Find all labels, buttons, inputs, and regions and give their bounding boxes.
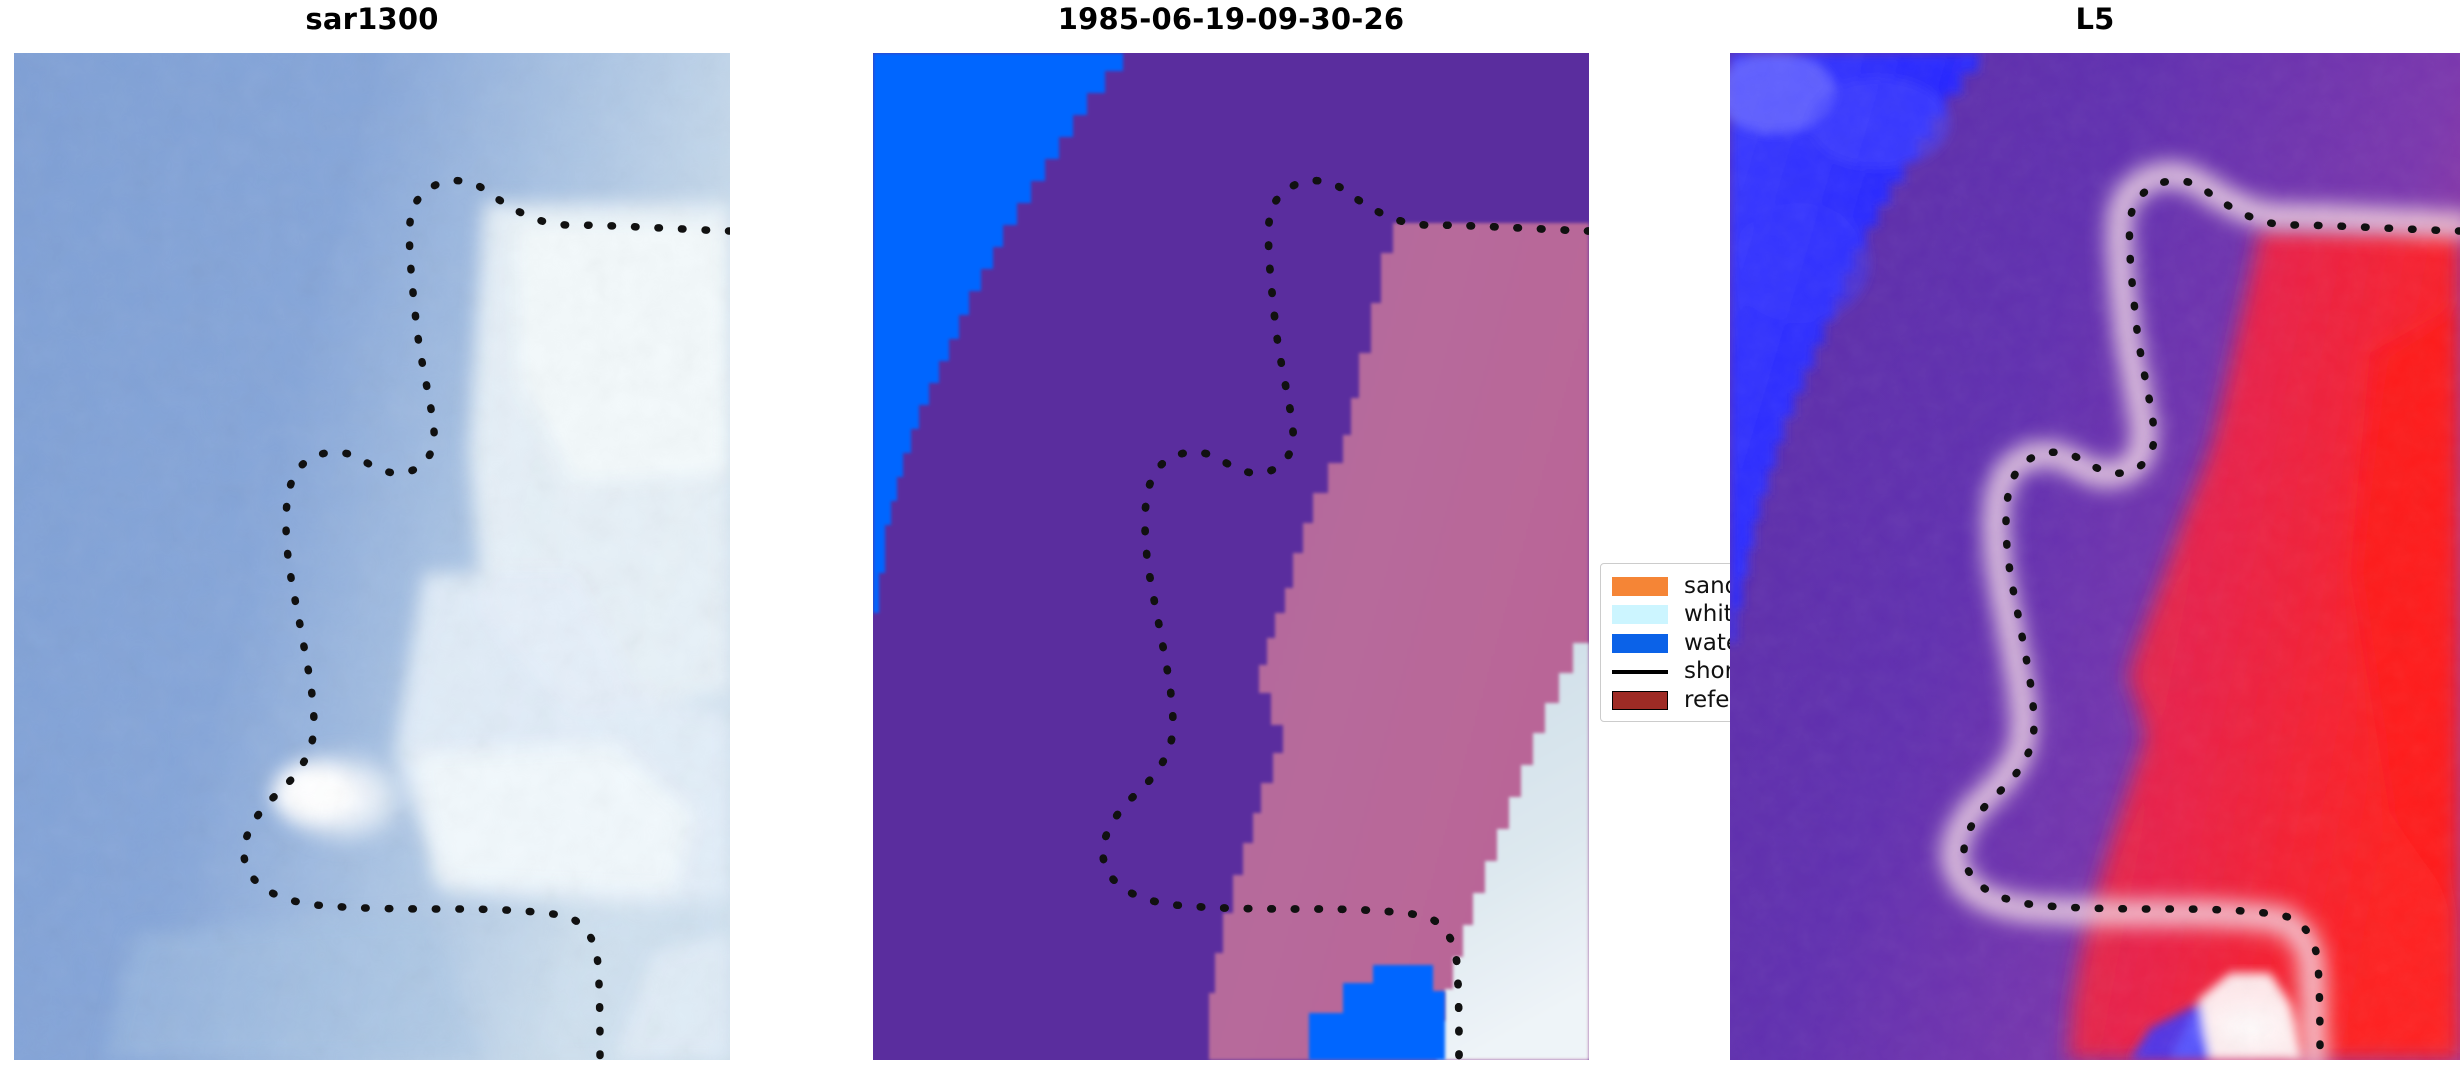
panel-classified [873, 53, 1589, 1060]
panel-rgb [1730, 53, 2460, 1060]
shoreline-line-icon [1612, 662, 1668, 681]
whitewater-swatch-icon [1612, 605, 1668, 624]
panel-title-classified: 1985-06-19-09-30-26 [873, 2, 1589, 36]
sand-swatch-icon [1612, 577, 1668, 596]
panel-title-sar: sar1300 [14, 2, 730, 36]
sar-image-canvas [14, 53, 730, 1060]
water-swatch-icon [1612, 634, 1668, 653]
rgb-image-canvas [1730, 53, 2460, 1060]
reference-swatch-icon [1612, 691, 1668, 710]
panel-sar [14, 53, 730, 1060]
figure-root: sar1300 [0, 0, 2460, 1075]
panel-title-rgb: L5 [1730, 2, 2460, 36]
classified-image-canvas [873, 53, 1589, 1060]
